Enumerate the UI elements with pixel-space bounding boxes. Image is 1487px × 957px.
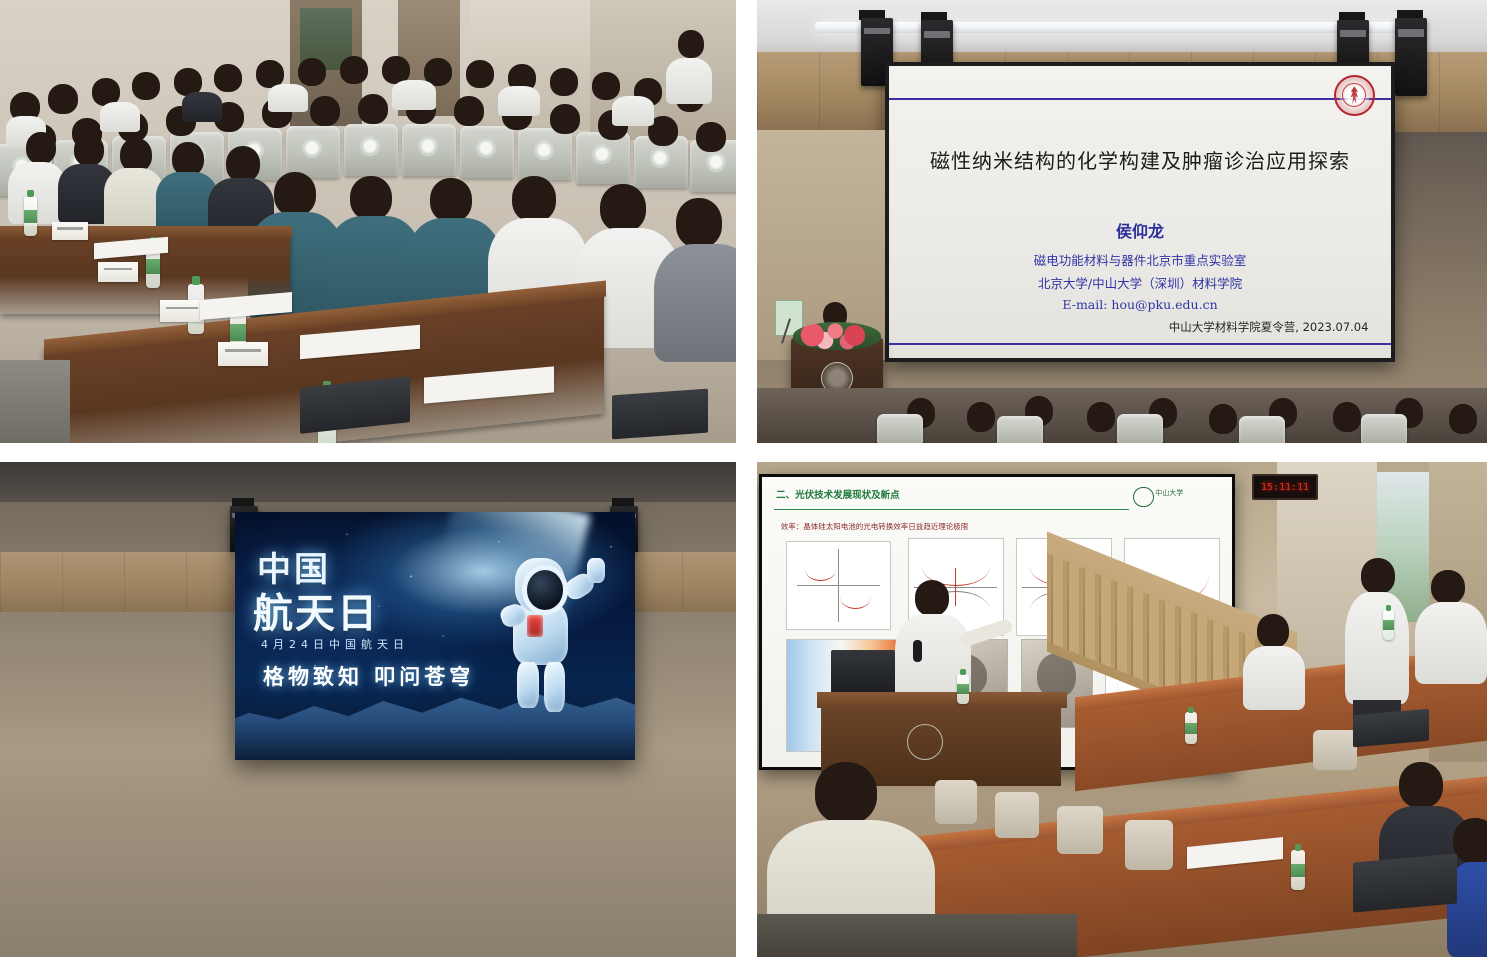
led-headline-line2: 航天日 — [253, 581, 379, 639]
panel-audience-seated-auditorium — [0, 0, 736, 443]
led-slogan: 格物致知 叩问苍穹 — [263, 661, 474, 691]
floor — [757, 914, 1077, 957]
microphone — [913, 640, 922, 662]
photo-collage: 磁性纳米结构的化学构建及肿瘤诊治应用探索 侯仰龙 磁电功能材料与器件北京市重点实… — [0, 0, 1487, 957]
water-bottle — [1291, 850, 1305, 890]
astronaut-illustration — [491, 537, 611, 716]
ceiling — [0, 462, 736, 502]
ceiling-speaker — [1395, 18, 1427, 96]
led-subtitle: 4月24日中国航天日 — [261, 636, 409, 652]
name-card — [218, 342, 268, 366]
slide-affiliation-2: 北京大学/中山大学（深圳）材料学院 — [889, 273, 1391, 292]
water-bottle — [24, 196, 37, 236]
chair — [1057, 806, 1103, 854]
sysu-logo-text: 中山大学 — [1155, 488, 1183, 498]
guest-table-upper-top — [0, 226, 292, 238]
chair — [935, 780, 977, 824]
title-slide: 磁性纳米结构的化学构建及肿瘤诊治应用探索 侯仰龙 磁电功能材料与器件北京市重点实… — [889, 66, 1391, 358]
laptop — [1353, 853, 1457, 912]
student-seated — [1415, 570, 1487, 690]
slide-author: 侯仰龙 — [889, 218, 1391, 242]
digital-clock: 15:11:11 — [1252, 474, 1318, 500]
name-card — [98, 262, 138, 282]
clock-digits: 15:11:11 — [1261, 482, 1309, 493]
water-bottle — [957, 674, 969, 704]
chart-band-diagram — [786, 541, 891, 630]
slide-rule-top — [889, 98, 1391, 100]
laptop — [1353, 709, 1429, 748]
ceiling-light — [815, 22, 1415, 33]
floor — [0, 360, 70, 443]
panel-photovoltaics-lecture: 15:11:11 二、光伏技术发展现状及新点 效率：晶体硅太阳电池的光电转换效率… — [757, 462, 1487, 957]
podium-crest-icon — [907, 724, 943, 760]
pv-title-underline — [774, 509, 1129, 510]
slide-rule-bottom — [889, 343, 1391, 345]
chair — [995, 792, 1039, 838]
pv-slide-title: 二、光伏技术发展现状及新点 — [776, 487, 900, 501]
panel-china-space-day-led-wall: 中国 航天日 4月24日中国航天日 格物致知 叩问苍穹 — [0, 462, 736, 957]
led-video-wall: 中国 航天日 4月24日中国航天日 格物致知 叩问苍穹 — [235, 512, 635, 760]
slide-email: E-mail: hou@pku.edu.cn — [889, 297, 1391, 312]
name-card — [52, 222, 88, 240]
slide-affiliation-1: 磁电功能材料与器件北京市重点实验室 — [889, 250, 1391, 269]
laptop — [612, 389, 708, 440]
water-bottle — [1185, 712, 1197, 744]
name-card — [160, 300, 204, 322]
slide-title: 磁性纳米结构的化学构建及肿瘤诊治应用探索 — [919, 145, 1361, 174]
flower-arrangement — [793, 322, 881, 350]
sysu-logo: 中山大学 — [1133, 486, 1218, 512]
slide-footer: 中山大学材料学院夏令营, 2023.07.04 — [1169, 319, 1369, 335]
panel-opening-lecture-title-slide: 磁性纳米结构的化学构建及肿瘤诊治应用探索 侯仰龙 磁电功能材料与器件北京市重点实… — [757, 0, 1487, 443]
projection-screen: 磁性纳米结构的化学构建及肿瘤诊治应用探索 侯仰龙 磁电功能材料与器件北京市重点实… — [885, 62, 1395, 362]
peking-university-seal-icon — [1334, 75, 1375, 116]
back-row-heads — [757, 380, 1487, 443]
water-bottle — [1383, 610, 1394, 640]
pv-slide-bullet: 效率：晶体硅太阳电池的光电转换效率日益趋近理论极限 — [781, 521, 969, 532]
student-seated — [1243, 614, 1305, 710]
chair — [1125, 820, 1173, 870]
av-monitor — [831, 650, 895, 694]
